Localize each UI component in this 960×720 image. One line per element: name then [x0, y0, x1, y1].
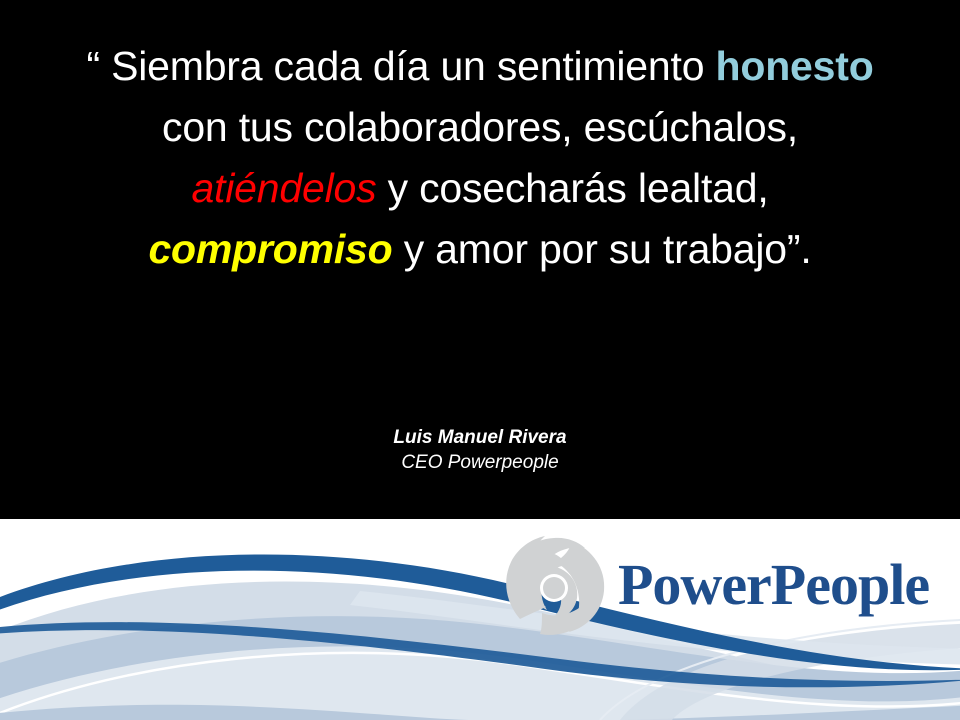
powerpeople-logo: PowerPeople: [500, 530, 900, 640]
slide: “ Siembra cada día un sentimiento honest…: [0, 0, 960, 720]
quote-highlight-compromiso: compromiso: [148, 226, 392, 272]
quote-segment-1: Siembra cada día un sentimiento: [111, 43, 715, 89]
quote-segment-4: y amor por su trabajo”.: [393, 226, 812, 272]
attribution-name: Luis Manuel Rivera: [70, 425, 890, 450]
quote-panel: “ Siembra cada día un sentimiento honest…: [0, 0, 960, 519]
attribution: Luis Manuel Rivera CEO Powerpeople: [70, 425, 890, 475]
attribution-role: CEO Powerpeople: [70, 450, 890, 475]
quote-highlight-honesto: honesto: [716, 43, 874, 89]
powerpeople-swirl-globe-icon: [500, 531, 608, 639]
quote-highlight-atiendelos: atiéndelos: [191, 165, 376, 211]
quote-open-mark: “: [86, 43, 111, 89]
quote-segment-3: y cosecharás lealtad,: [376, 165, 779, 211]
quote-text: “ Siembra cada día un sentimiento honest…: [70, 36, 890, 280]
powerpeople-wordmark: PowerPeople: [618, 556, 929, 614]
